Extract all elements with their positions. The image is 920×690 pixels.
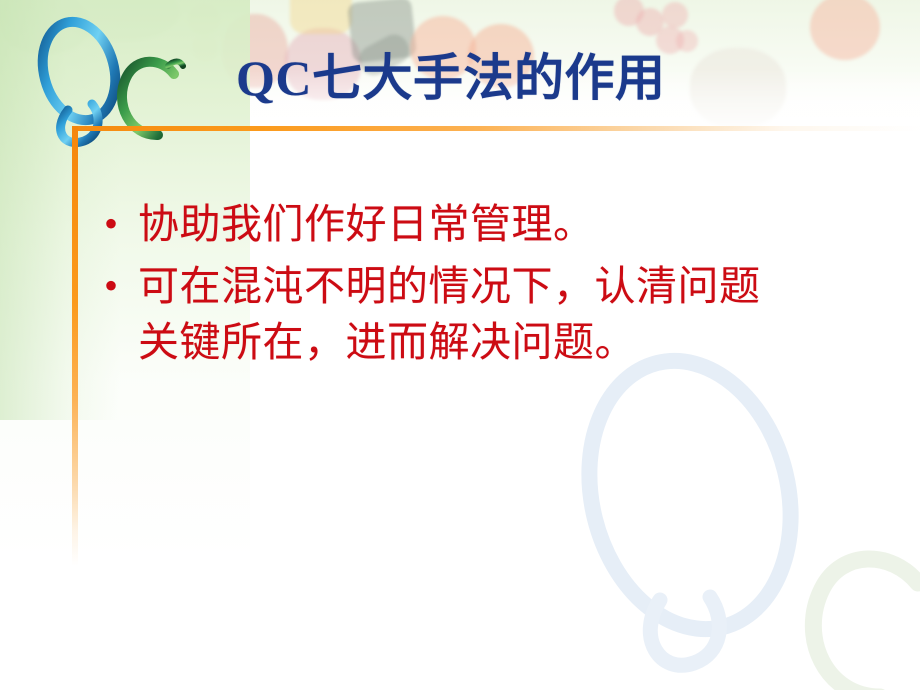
list-item: • 协助我们作好日常管理。 <box>100 196 890 252</box>
produce-blob-cauliflower <box>690 48 786 128</box>
produce-blob-apple <box>810 0 880 60</box>
list-item: • 可在混沌不明的情况下，认清问题 关键所在，进而解决问题。 <box>100 258 890 370</box>
produce-blob-kiwi <box>188 4 220 36</box>
content-divider-vertical <box>72 126 78 566</box>
produce-blob-leaf <box>0 0 90 54</box>
title-divider-horizontal <box>72 126 920 131</box>
produce-blob-cherry-3 <box>662 2 688 28</box>
bullet-text-line: 关键所在，进而解决问题。 <box>138 319 636 365</box>
bullet-text-line: 可在混沌不明的情况下，认清问题 <box>138 263 761 309</box>
bullet-text: 协助我们作好日常管理。 <box>138 196 890 252</box>
bullet-list: • 协助我们作好日常管理。 • 可在混沌不明的情况下，认清问题 关键所在，进而解… <box>100 196 890 376</box>
slide: QC七大手法的作用 • 协助我们作好日常管理。 • 可在混沌不明的情况下，认清问… <box>0 0 920 690</box>
bullet-point-icon: • <box>100 196 138 252</box>
page-title: QC七大手法的作用 <box>236 52 666 105</box>
produce-blob-cherry-5 <box>676 30 698 52</box>
produce-blob-leaf-2 <box>60 0 180 42</box>
produce-blob-kiwi-2 <box>192 36 218 62</box>
bullet-point-icon: • <box>100 258 138 314</box>
produce-blob-cherry-cluster <box>614 0 644 26</box>
produce-blob-pepper-yellow <box>290 0 352 34</box>
produce-blob-cherry-2 <box>636 8 664 36</box>
qc-watermark <box>540 345 920 690</box>
bullet-text: 可在混沌不明的情况下，认清问题 关键所在，进而解决问题。 <box>138 258 890 370</box>
